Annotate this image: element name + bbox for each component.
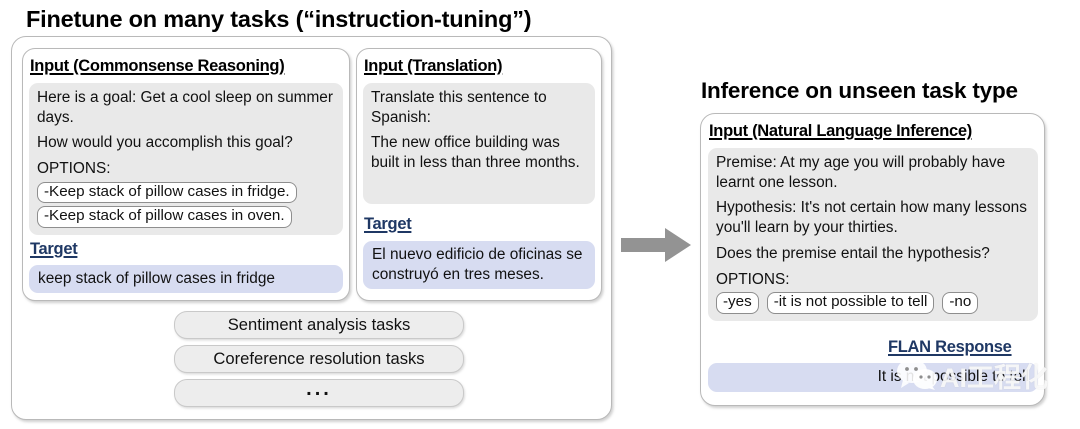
commonsense-option-pill-oven[interactable]: -Keep stack of pillow cases in oven.: [37, 206, 292, 228]
commonsense-option-row-2: -Keep stack of pillow cases in oven.: [37, 206, 335, 228]
task-pill-sentiment-analysis-label: Sentiment analysis tasks: [228, 315, 411, 335]
commonsense-input-paragraph-1: Here is a goal: Get a cool sleep on summ…: [37, 88, 335, 127]
commonsense-option-pill-fridge[interactable]: -Keep stack of pillow cases in fridge.: [37, 182, 297, 204]
inference-hypothesis: Hypothesis: It's not certain how many le…: [716, 198, 1030, 237]
inference-option-row: -yes -it is not possible to tell -no: [716, 292, 1030, 314]
inference-input-label: Input (Natural Language Inference): [709, 122, 972, 141]
commonsense-target-block: keep stack of pillow cases in fridge: [29, 265, 343, 293]
commonsense-target-label: Target: [30, 240, 77, 259]
inference-input-block: Premise: At my age you will probably hav…: [708, 148, 1038, 321]
inference-option-pill-not-possible-to-tell[interactable]: -it is not possible to tell: [767, 292, 935, 314]
commonsense-option-row-1: -Keep stack of pillow cases in fridge.: [37, 182, 335, 204]
commonsense-options-label: OPTIONS:: [37, 159, 335, 179]
flan-response-block: It is not possible to tell: [708, 363, 1038, 392]
commonsense-input-label: Input (Commonsense Reasoning): [30, 57, 284, 76]
translation-input-paragraph-2: The new office building was built in les…: [371, 133, 587, 172]
flan-response-label: FLAN Response: [888, 338, 1012, 357]
translation-input-block: Translate this sentence to Spanish: The …: [363, 83, 595, 204]
inference-premise: Premise: At my age you will probably hav…: [716, 153, 1030, 192]
translation-target-text: El nuevo edificio de oficinas se constru…: [372, 245, 586, 284]
translation-target-block: El nuevo edificio de oficinas se constru…: [363, 241, 595, 289]
flan-response-text: It is not possible to tell: [717, 367, 1029, 387]
task-pill-sentiment-analysis[interactable]: Sentiment analysis tasks: [174, 311, 464, 339]
inference-options-label: OPTIONS:: [716, 270, 1030, 290]
commonsense-input-paragraph-2: How would you accomplish this goal?: [37, 133, 335, 153]
task-pill-coreference-resolution[interactable]: Coreference resolution tasks: [174, 345, 464, 373]
left-section-heading: Finetune on many tasks (“instruction-tun…: [26, 6, 531, 33]
figure-canvas: Finetune on many tasks (“instruction-tun…: [0, 0, 1080, 429]
translation-target-label: Target: [364, 215, 411, 234]
commonsense-target-text: keep stack of pillow cases in fridge: [38, 269, 334, 289]
task-pill-coreference-resolution-label: Coreference resolution tasks: [213, 349, 424, 369]
inference-option-pill-no[interactable]: -no: [942, 292, 978, 314]
task-pill-more-tasks-label: ...: [306, 378, 332, 401]
arrow-right-icon: [621, 228, 691, 262]
translation-input-paragraph-1: Translate this sentence to Spanish:: [371, 88, 587, 127]
right-section-heading: Inference on unseen task type: [701, 78, 1018, 104]
commonsense-input-block: Here is a goal: Get a cool sleep on summ…: [29, 83, 343, 235]
inference-question: Does the premise entail the hypothesis?: [716, 244, 1030, 264]
inference-option-pill-yes[interactable]: -yes: [716, 292, 759, 314]
translation-input-label: Input (Translation): [364, 57, 502, 76]
task-pill-more-tasks[interactable]: ...: [174, 379, 464, 407]
